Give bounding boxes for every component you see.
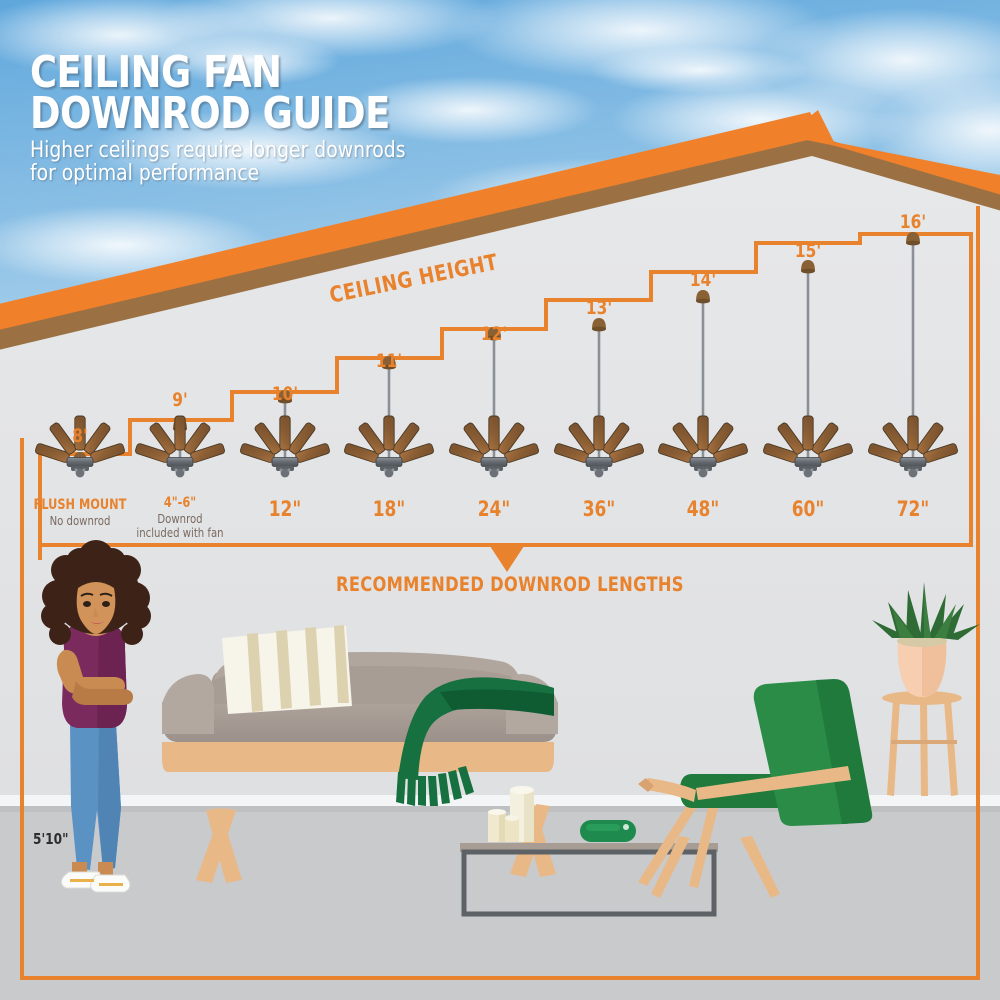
ceiling-height-label-13ft: 13' — [563, 297, 635, 319]
downrod-length-label-0: FLUSH MOUNT — [31, 497, 130, 513]
person-height-label: 5'10" — [33, 830, 68, 848]
downrod-sublabel-1: Downrodincluded with fan — [126, 512, 234, 540]
page-title: CEILING FAN DOWNROD GUIDE Higher ceiling… — [30, 52, 550, 186]
downrod-length-label-2: 12" — [236, 497, 335, 521]
ceiling-height-label-12ft: 12' — [458, 323, 530, 345]
recommended-downrod-axis-label: RECOMMENDED DOWNROD LENGTHS — [336, 573, 684, 596]
downrod-length-label-7: 60" — [759, 497, 858, 521]
downrod-length-label-5: 36" — [550, 497, 649, 521]
downrod-length-label-8: 72" — [864, 497, 963, 521]
downrod-length-label-3: 18" — [340, 497, 439, 521]
ceiling-height-label-11ft: 11' — [353, 350, 425, 372]
subtitle: Higher ceilings require longer downrods … — [30, 139, 524, 187]
ceiling-height-label-15ft: 15' — [772, 240, 844, 262]
ceiling-height-label-14ft: 14' — [667, 269, 739, 291]
downrod-sublabel-0: No downrod — [26, 514, 134, 528]
infographic-canvas: CEILING FAN DOWNROD GUIDE Higher ceiling… — [0, 0, 1000, 1000]
ceiling-height-label-8ft: 8' — [44, 425, 116, 447]
ceiling-height-label-9ft: 9' — [144, 389, 216, 411]
downrod-length-label-6: 48" — [654, 497, 753, 521]
ceiling-height-label-10ft: 10' — [249, 383, 321, 405]
ceiling-height-label-16ft: 16' — [877, 211, 949, 233]
subtitle-line-1: Higher ceilings require longer downrods — [30, 139, 524, 163]
throw-pillow — [222, 625, 352, 714]
downrod-sublabel-line-1: Downrod — [126, 512, 234, 526]
lounge-chair — [638, 679, 872, 898]
downrod-sublabel-line-2: included with fan — [126, 526, 234, 540]
title-line-2: DOWNROD GUIDE — [30, 93, 514, 134]
downrod-sublabel-line-1: No downrod — [26, 514, 134, 528]
plant-stand — [872, 582, 980, 796]
title-line-1: CEILING FAN — [30, 52, 514, 93]
downrod-length-label-4: 24" — [445, 497, 544, 521]
candles — [488, 786, 534, 842]
decor-bowl — [580, 820, 636, 842]
downrod-length-label-1: 4"-6" — [131, 495, 230, 511]
subtitle-line-2: for optimal performance — [30, 162, 524, 186]
